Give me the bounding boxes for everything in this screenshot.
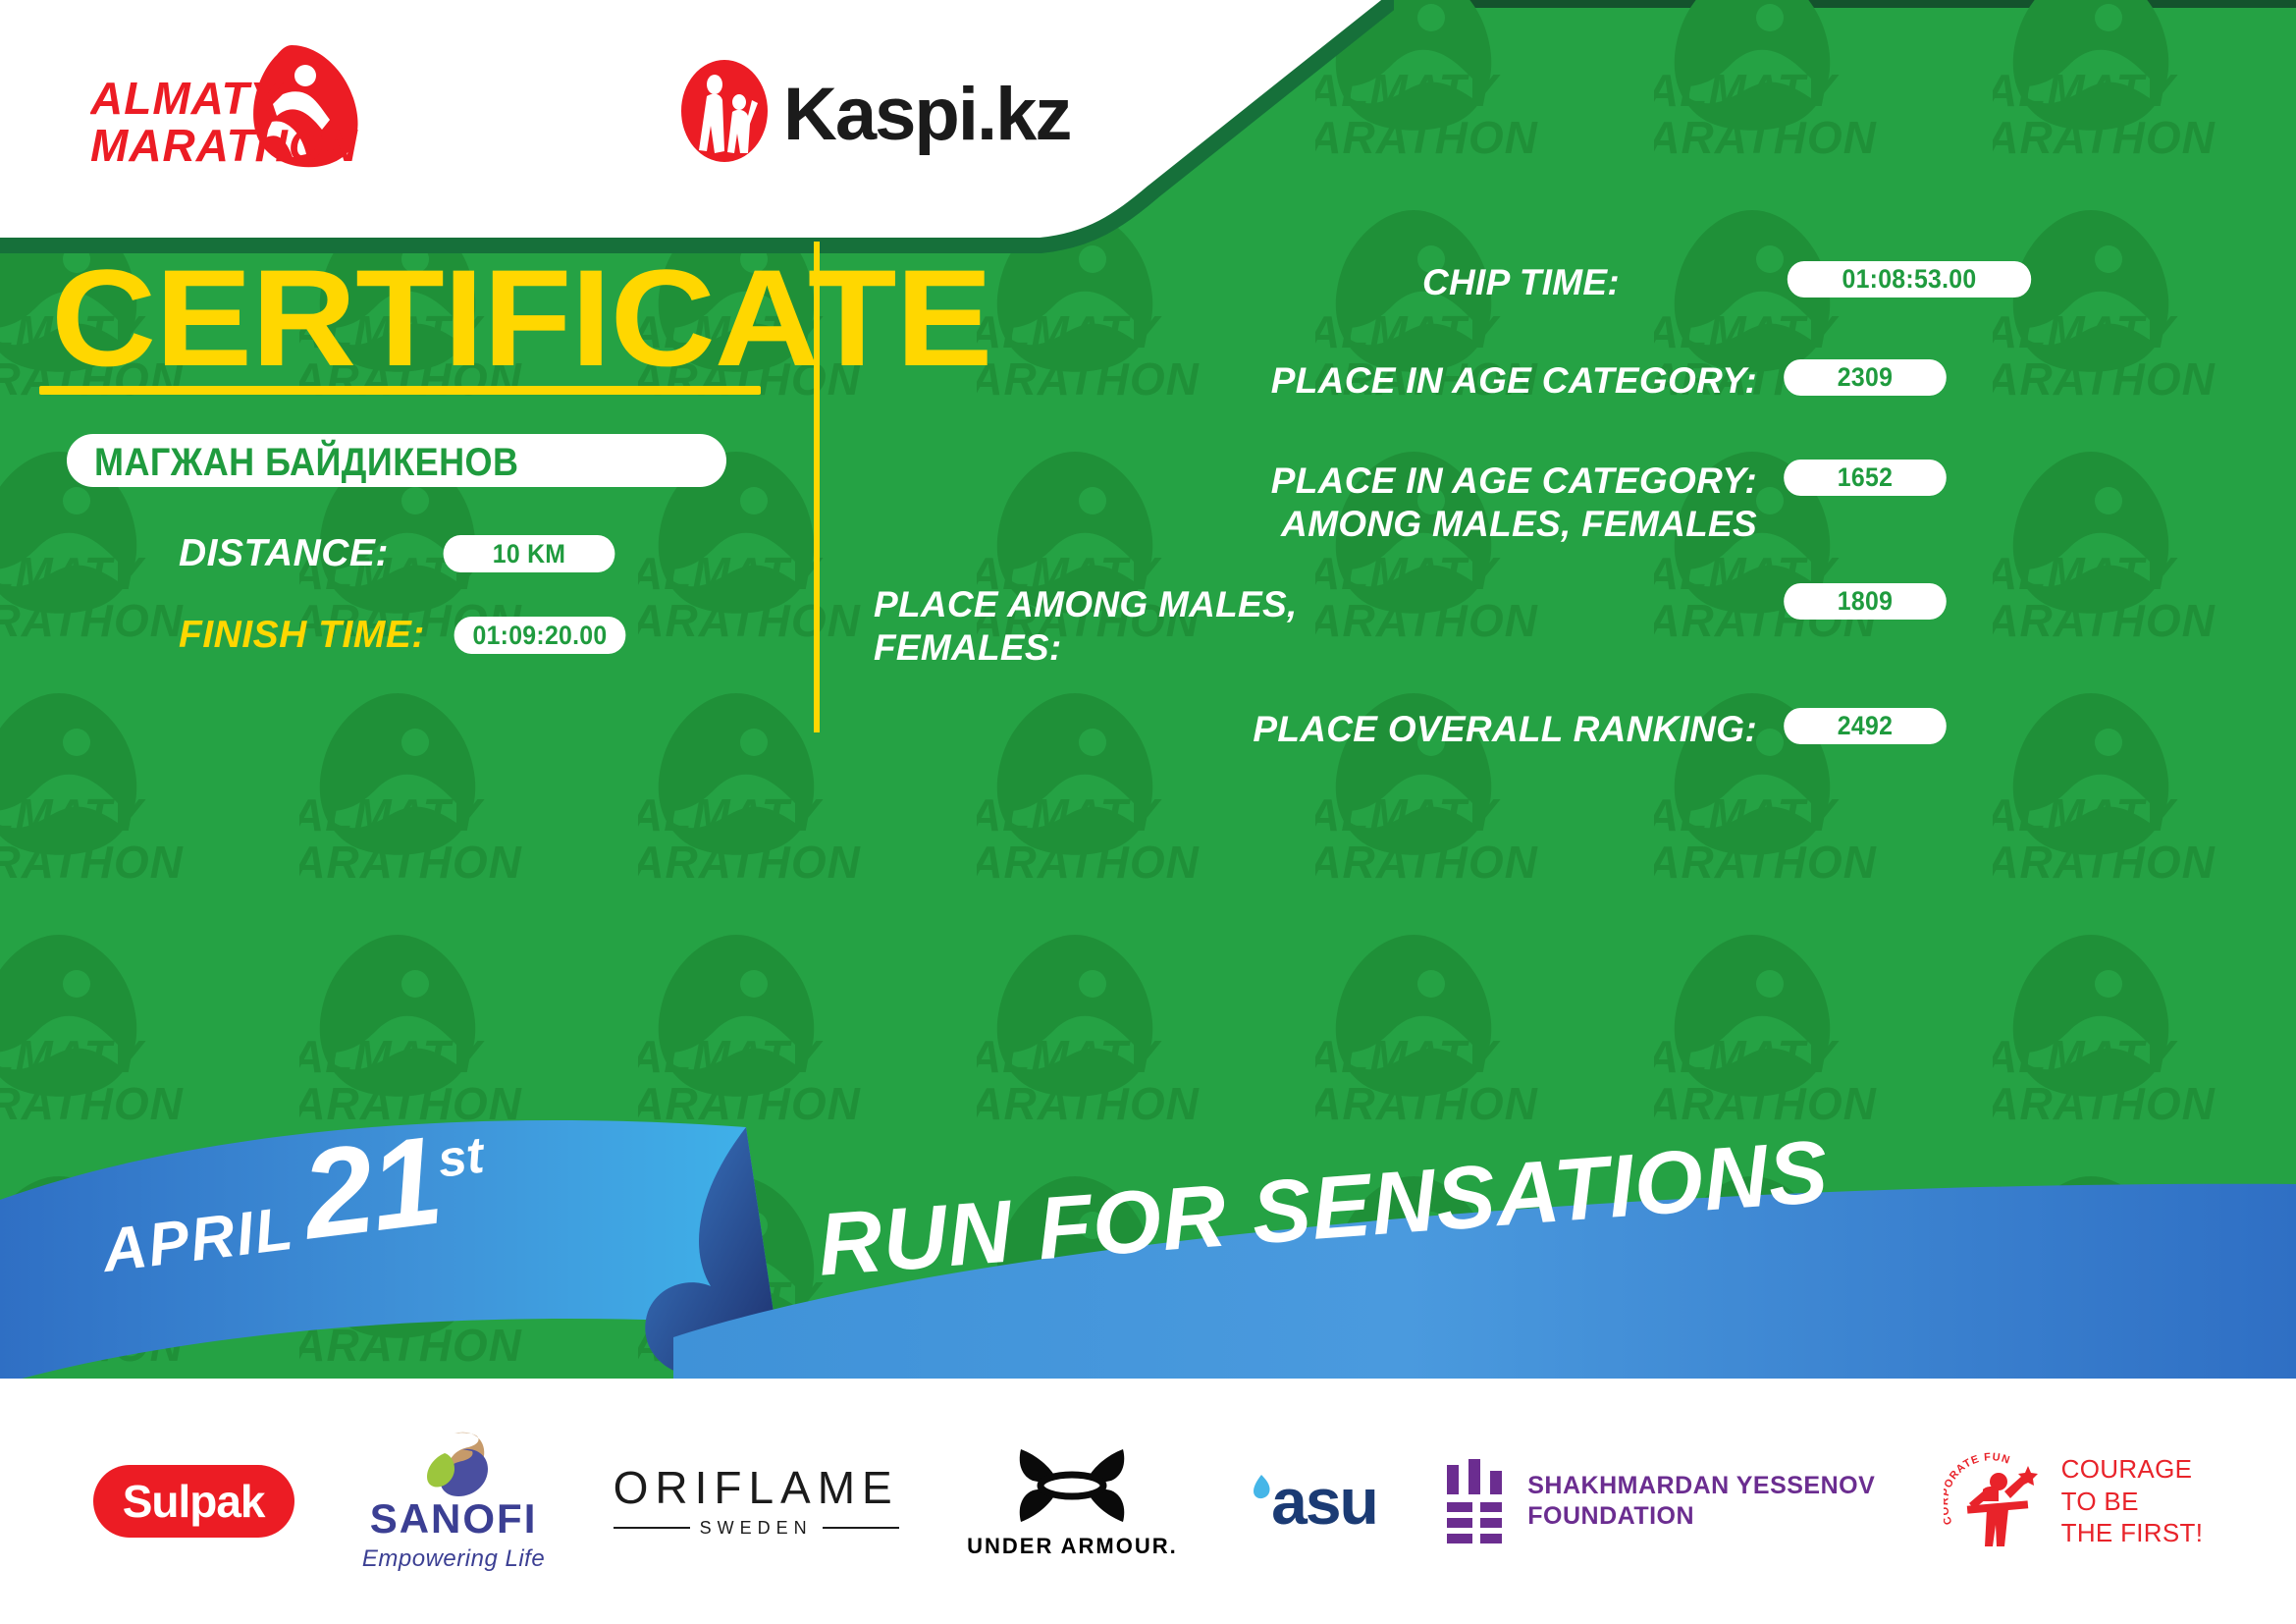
oriflame-rule-left — [614, 1527, 690, 1529]
sponsor-yessenov-foundation: SHAKHMARDAN YESSENOV FOUNDATION — [1445, 1459, 1875, 1543]
courage-line-1: COURAGE — [2061, 1453, 2204, 1486]
result-label: PLACE OVERALL RANKING: — [874, 708, 1757, 751]
result-value: 2309 — [1784, 359, 1947, 396]
courage-line-2: TO BE — [2061, 1486, 2204, 1518]
kaspi-logo: Kaspi.kz — [677, 57, 1070, 165]
sponsor-oriflame: ORIFLAME SWEDEN — [614, 1465, 899, 1539]
finish-time-row: FINISH TIME: 01:09:20.00 — [179, 614, 768, 657]
sponsor-under-armour: UNDER ARMOUR. — [967, 1443, 1178, 1559]
under-armour-icon — [1003, 1443, 1141, 1528]
sponsor-asu: asu — [1246, 1469, 1377, 1534]
distance-label: DISTANCE: — [179, 532, 389, 575]
sulpak-wordmark: Sulpak — [93, 1465, 294, 1538]
result-value: 1809 — [1784, 583, 1947, 620]
result-value: 2492 — [1784, 708, 1947, 744]
result-row-place-age-category: PLACE IN AGE CATEGORY: 2309 — [874, 359, 2268, 403]
certificate-page: ALMATY MARATHON ALMATY MARATHON — [0, 0, 2296, 1624]
distance-value: 10 KM — [444, 535, 615, 572]
yessenov-line-1: SHAKHMARDAN YESSENOV — [1527, 1471, 1875, 1501]
kaspi-wordmark: Kaspi.kz — [783, 73, 1070, 156]
sanofi-tagline: Empowering Life — [362, 1545, 545, 1573]
courage-line-3: THE FIRST! — [2061, 1517, 2204, 1549]
courage-child-icon: CORPORATE FUND — [1944, 1452, 2048, 1550]
distance-row: DISTANCE: 10 KM — [179, 532, 768, 575]
sanofi-icon — [411, 1430, 496, 1498]
result-row-chip-time: CHIP TIME: 01:08:53.00 — [874, 261, 2268, 304]
oriflame-country: SWEDEN — [700, 1518, 813, 1539]
event-day: 21 — [295, 1110, 448, 1267]
page-title: CERTIFICATE — [51, 249, 821, 387]
sponsor-bar: Sulpak SANOFI Empowering Life ORIFLAME S… — [0, 1379, 2296, 1624]
result-label: PLACE AMONG MALES, FEMALES: — [874, 583, 1757, 670]
asu-wordmark: asu — [1271, 1469, 1377, 1534]
under-armour-wordmark: UNDER ARMOUR. — [967, 1534, 1178, 1559]
result-label: PLACE IN AGE CATEGORY: AMONG MALES, FEMA… — [874, 460, 1757, 546]
result-value: 1652 — [1784, 460, 1947, 496]
sanofi-wordmark: SANOFI — [370, 1498, 538, 1540]
courage-wordmark: COURAGE TO BE THE FIRST! — [2061, 1453, 2204, 1549]
event-day-suffix: st — [435, 1127, 487, 1189]
result-row-place-age-category-among: PLACE IN AGE CATEGORY: AMONG MALES, FEMA… — [874, 460, 2268, 546]
result-row-place-among-males-females: PLACE AMONG MALES, FEMALES: 1809 — [874, 583, 2268, 670]
oriflame-subline: SWEDEN — [614, 1518, 899, 1539]
oriflame-wordmark: ORIFLAME — [614, 1465, 899, 1510]
result-label: CHIP TIME: — [874, 261, 1620, 304]
result-label: PLACE IN AGE CATEGORY: — [874, 359, 1757, 403]
sponsor-sulpak: Sulpak — [93, 1465, 294, 1538]
yessenov-wordmark: SHAKHMARDAN YESSENOV FOUNDATION — [1527, 1471, 1875, 1533]
sponsor-sanofi: SANOFI Empowering Life — [362, 1430, 545, 1573]
result-value: 01:08:53.00 — [1788, 261, 2031, 298]
athlete-name: МАГЖАН БАЙДИКЕНОВ — [94, 440, 660, 485]
sponsor-courage-fund: CORPORATE FUND COURAGE TO BE THE FIRST! — [1944, 1452, 2204, 1550]
column-divider — [814, 242, 820, 732]
logo-text-marathon: MARATHON — [90, 120, 358, 169]
finish-time-label: FINISH TIME: — [179, 614, 425, 657]
event-month: APRIL — [99, 1195, 298, 1285]
result-row-place-overall-ranking: PLACE OVERALL RANKING: 2492 — [874, 708, 2268, 751]
almaty-marathon-logo: ALMATY MARATHON — [90, 41, 404, 169]
yessenov-line-2: FOUNDATION — [1527, 1501, 1875, 1532]
yessenov-bars-icon — [1445, 1459, 1506, 1543]
logo-text-almaty: ALMATY — [90, 73, 285, 124]
title-underline — [39, 386, 761, 395]
finish-time-value: 01:09:20.00 — [454, 617, 625, 654]
oriflame-rule-right — [823, 1527, 899, 1529]
